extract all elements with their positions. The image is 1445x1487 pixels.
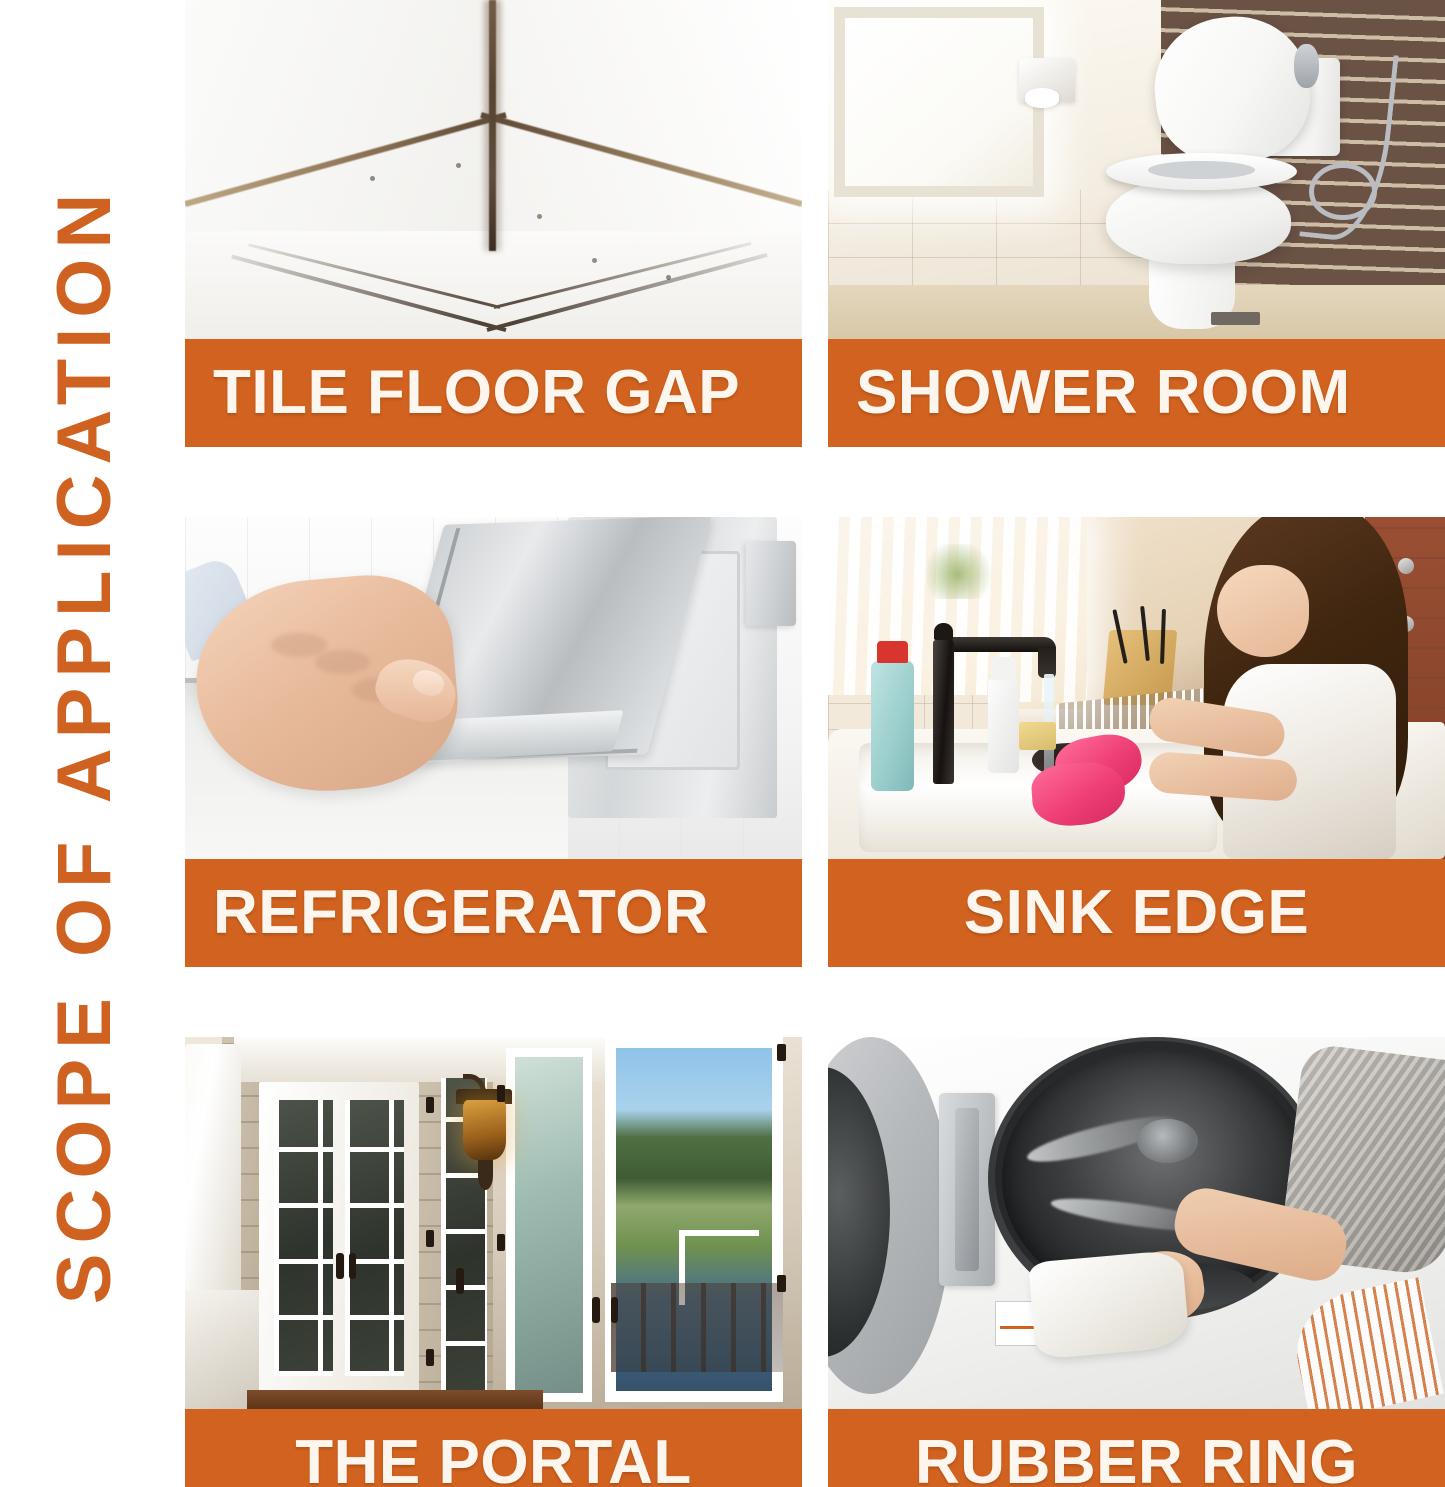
photo-tile-floor-gap xyxy=(185,0,802,339)
faucet-spout xyxy=(1038,647,1057,678)
lantern-sconce xyxy=(463,1100,506,1160)
fridge-door-handle xyxy=(746,541,795,627)
spray-bottle xyxy=(871,661,914,791)
page-title: SCOPE OF APPLICATION xyxy=(47,183,123,1304)
door-hinge xyxy=(426,1230,435,1247)
knuckle xyxy=(271,633,327,657)
door-hinge xyxy=(426,1097,435,1114)
door-threshold xyxy=(247,1390,543,1409)
sponge xyxy=(1019,722,1056,749)
door-handle[interactable] xyxy=(349,1253,356,1279)
card-rubber-ring[interactable]: RUBBER RING xyxy=(828,1037,1445,1487)
side-title-container: SCOPE OF APPLICATION xyxy=(0,0,170,1487)
door-handle[interactable] xyxy=(336,1253,343,1279)
label-band-sink-edge: SINK EDGE xyxy=(828,859,1445,967)
mould-speck xyxy=(666,275,671,280)
bathroom-floor xyxy=(828,285,1445,339)
door-handle[interactable] xyxy=(611,1297,618,1323)
mould-speck xyxy=(592,258,597,263)
label-band-tile-floor-gap: TILE FLOOR GAP xyxy=(185,339,802,447)
tile-wall-left xyxy=(185,0,494,244)
photo-shower-room xyxy=(828,0,1445,339)
door-hinge xyxy=(497,1085,506,1102)
bidet-hose-coil xyxy=(1309,163,1377,221)
application-grid: TILE FLOOR GAP xyxy=(185,0,1445,1487)
bathroom-window xyxy=(834,7,1044,197)
door-hinge xyxy=(497,1234,506,1251)
french-door-panes-left xyxy=(274,1100,333,1375)
label-text-tile-floor-gap: TILE FLOOR GAP xyxy=(213,362,740,424)
label-text-shower-room: SHOWER ROOM xyxy=(856,362,1351,424)
label-band-the-portal: THE PORTAL xyxy=(185,1409,802,1487)
label-band-refrigerator: REFRIGERATOR xyxy=(185,859,802,967)
card-the-portal[interactable]: THE PORTAL xyxy=(185,1037,802,1487)
mould-speck xyxy=(537,214,542,219)
door-hinge xyxy=(777,1275,786,1292)
photo-refrigerator xyxy=(185,517,802,859)
infographic-page: SCOPE OF APPLICATION xyxy=(0,0,1445,1487)
label-band-shower-room: SHOWER ROOM xyxy=(828,339,1445,447)
photo-sink-edge xyxy=(828,517,1445,859)
label-text-sink-edge: SINK EDGE xyxy=(964,882,1310,944)
patio-door-glass xyxy=(506,1048,592,1401)
photo-the-portal xyxy=(185,1037,802,1409)
label-text-the-portal: THE PORTAL xyxy=(295,1432,692,1487)
door-hinge xyxy=(777,1044,786,1061)
bidet-sprayer-head xyxy=(1294,44,1319,88)
toilet-seat xyxy=(1106,153,1297,190)
faucet-column xyxy=(933,640,954,784)
label-text-refrigerator: REFRIGERATOR xyxy=(213,882,709,944)
label-text-rubber-ring: RUBBER RING xyxy=(915,1432,1358,1487)
photo-rubber-ring xyxy=(828,1037,1445,1409)
window-plant xyxy=(927,544,995,599)
lantern-finial xyxy=(478,1160,493,1190)
label-band-rubber-ring: RUBBER RING xyxy=(828,1409,1445,1487)
french-door-panes-right xyxy=(345,1100,404,1375)
girl-face xyxy=(1217,565,1310,657)
porch-column xyxy=(185,1044,241,1319)
tile-wall-right xyxy=(494,0,803,244)
card-shower-room[interactable]: SHOWER ROOM xyxy=(828,0,1445,447)
door-hinge xyxy=(426,1349,435,1366)
deck-railing-reflection xyxy=(611,1283,784,1372)
card-sink-edge[interactable]: SINK EDGE xyxy=(828,517,1445,967)
card-tile-floor-gap[interactable]: TILE FLOOR GAP xyxy=(185,0,802,447)
faucet-cap xyxy=(934,623,953,640)
toilet-paper-roll xyxy=(1025,88,1059,108)
door-handle[interactable] xyxy=(456,1268,463,1294)
soap-dispenser xyxy=(988,678,1019,774)
door-handle[interactable] xyxy=(592,1297,599,1323)
washer-door-hinge xyxy=(939,1093,995,1286)
cleaning-cloth xyxy=(1028,1250,1190,1360)
grout-line-corner-vertical xyxy=(489,0,496,251)
floor-drain xyxy=(1211,312,1260,326)
card-refrigerator[interactable]: REFRIGERATOR xyxy=(185,517,802,967)
